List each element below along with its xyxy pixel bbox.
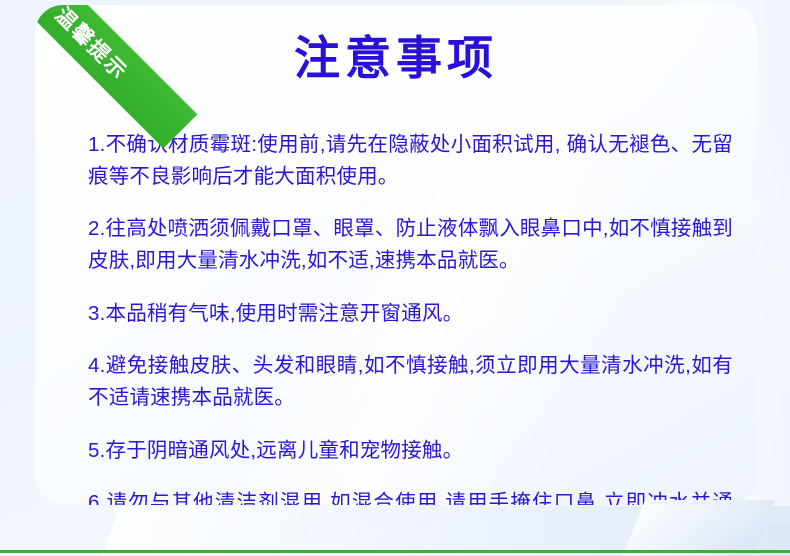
- notice-page: 注意事项 1.不确认材质霉斑:使用前,请先在隐蔽处小面积试用, 确认无褪色、无留…: [0, 0, 790, 556]
- note-item-1: 1.不确认材质霉斑:使用前,请先在隐蔽处小面积试用, 确认无褪色、无留痕等不良影…: [88, 129, 733, 193]
- note-item-2: 2.往高处喷洒须佩戴口罩、眼罩、防止液体飘入眼鼻口中,如不慎接触到皮肤,即用大量…: [88, 213, 733, 277]
- page-title: 注意事项: [35, 33, 757, 85]
- notes-list: 1.不确认材质霉斑:使用前,请先在隐蔽处小面积试用, 确认无褪色、无留痕等不良影…: [88, 108, 733, 505]
- note-item-3: 3.本品稍有气味,使用时需注意开窗通风。: [88, 298, 733, 330]
- note-item-4: 4.避免接触皮肤、头发和眼睛,如不慎接触,须立即用大量清水冲洗,如有不适请速携本…: [88, 350, 733, 414]
- notice-card: 注意事项 1.不确认材质霉斑:使用前,请先在隐蔽处小面积试用, 确认无褪色、无留…: [35, 5, 757, 505]
- note-item-6: 6.请勿与其他清洁剂混用,如混合使用,请用手掩住口鼻,立即冲水并通风。: [88, 487, 733, 505]
- bottom-green-rule: [0, 550, 790, 553]
- note-item-5: 5.存于阴暗通风处,远离儿童和宠物接触。: [88, 435, 733, 467]
- bottom-fold-accent: [622, 500, 775, 556]
